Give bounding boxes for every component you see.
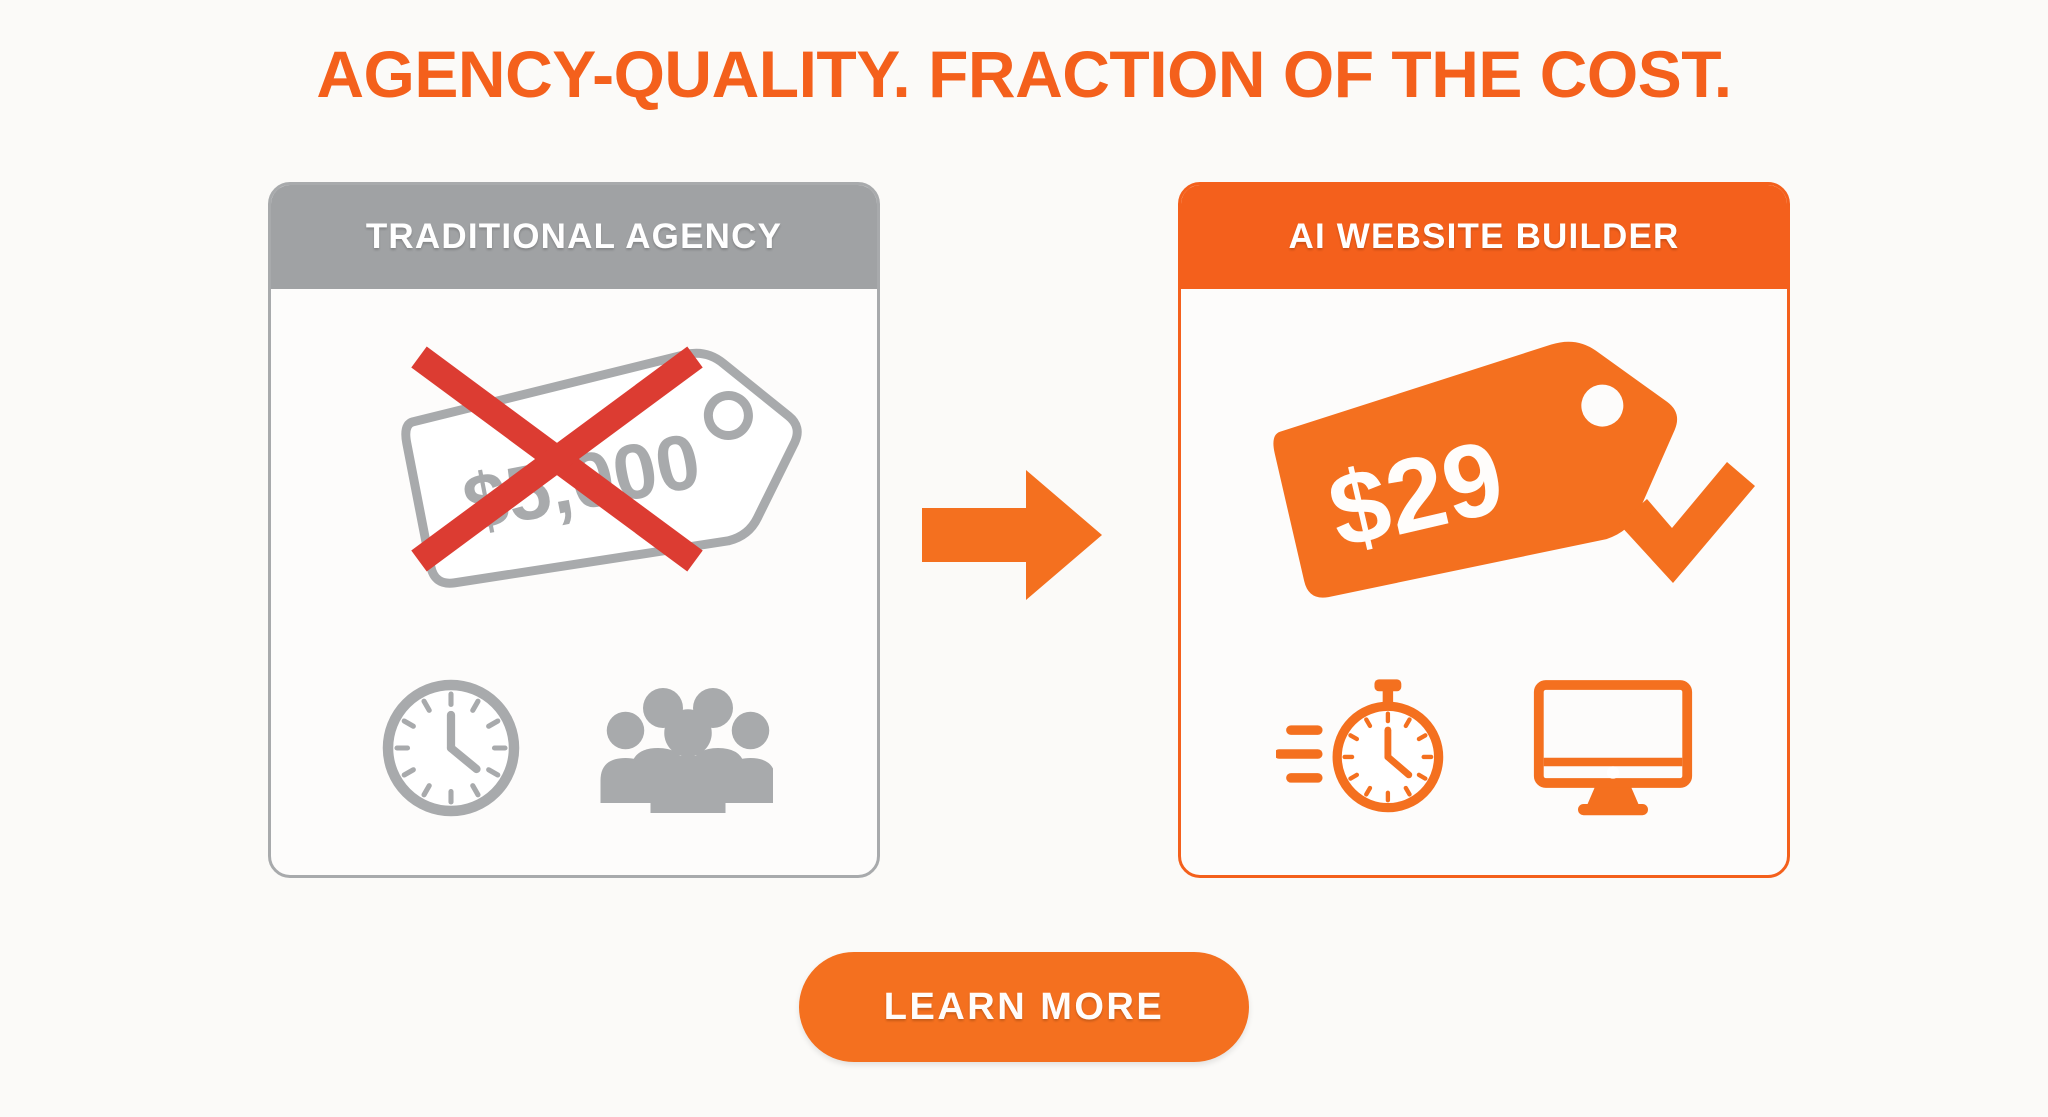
learn-more-button[interactable]: LEARN MORE [799, 952, 1249, 1062]
stopwatch-icon [1276, 673, 1461, 823]
page-title: AGENCY-QUALITY. FRACTION OF THE COST. [0, 36, 2048, 112]
card-header-traditional-agency: TRADITIONAL AGENCY [271, 185, 877, 289]
ai-builder-icon-row [1181, 673, 1787, 823]
comparison-card-traditional-agency: TRADITIONAL AGENCY $5,000 [268, 182, 880, 878]
card-body-ai-website-builder: $29 [1181, 289, 1787, 875]
desktop-monitor-icon [1533, 678, 1693, 818]
clock-icon [376, 673, 526, 823]
card-body-traditional-agency: $5,000 [271, 289, 877, 875]
card-header-label: TRADITIONAL AGENCY [366, 217, 782, 257]
people-group-icon [598, 683, 773, 813]
card-header-ai-website-builder: AI WEBSITE BUILDER [1181, 185, 1787, 289]
price-tag-struck-icon: $5,000 [271, 299, 880, 599]
traditional-agency-icon-row [271, 673, 877, 823]
right-arrow-icon [922, 470, 1102, 600]
card-header-label: AI WEBSITE BUILDER [1288, 217, 1679, 257]
struck-price-tag-group: $5,000 [271, 299, 877, 599]
price-tag-icon: $29 [1181, 299, 1790, 599]
comparison-card-ai-website-builder: AI WEBSITE BUILDER $29 [1178, 182, 1790, 878]
price-tag-group: $29 [1181, 299, 1787, 599]
